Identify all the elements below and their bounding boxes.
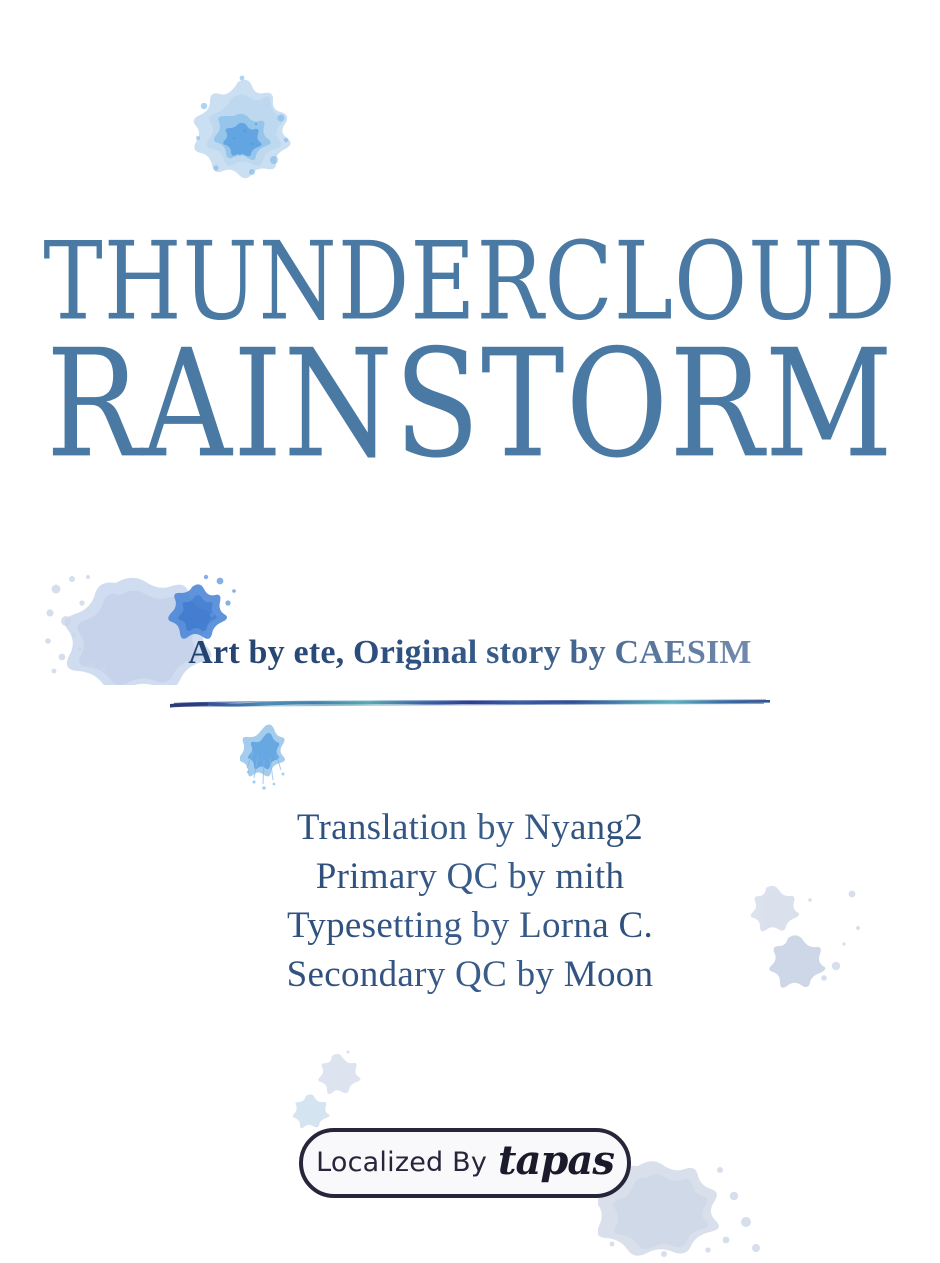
credit-secondary-qc: Secondary QC by Moon	[0, 950, 940, 999]
splash-lower-left-icon	[292, 1000, 422, 1130]
staff-credits-block: Translation by Nyang2 Primary QC by mith…	[0, 803, 940, 999]
badge-prefix-label: Localized By	[316, 1149, 487, 1178]
title-page: THUNDERCLOUD RAINSTORM Art by ete, Origi…	[0, 0, 940, 1263]
credit-translation: Translation by Nyang2	[0, 803, 940, 852]
credit-primary-qc: Primary QC by mith	[0, 852, 940, 901]
splash-top-left-icon	[186, 72, 296, 182]
title-block: THUNDERCLOUD RAINSTORM	[0, 228, 940, 462]
localized-by-tapas-badge[interactable]: Localized By tapas	[299, 1128, 631, 1198]
tapas-wordmark: tapas	[498, 1141, 614, 1185]
credit-typesetting: Typesetting by Lorna C.	[0, 901, 940, 950]
hand-drawn-rule-icon	[168, 694, 772, 716]
watercolor-splash-layer	[0, 0, 940, 1263]
author-credit-line: Art by ete, Original story by CAESIM	[0, 634, 940, 672]
title-line-rainstorm: RAINSTORM	[24, 330, 917, 479]
splash-under-divider-icon	[240, 722, 292, 792]
